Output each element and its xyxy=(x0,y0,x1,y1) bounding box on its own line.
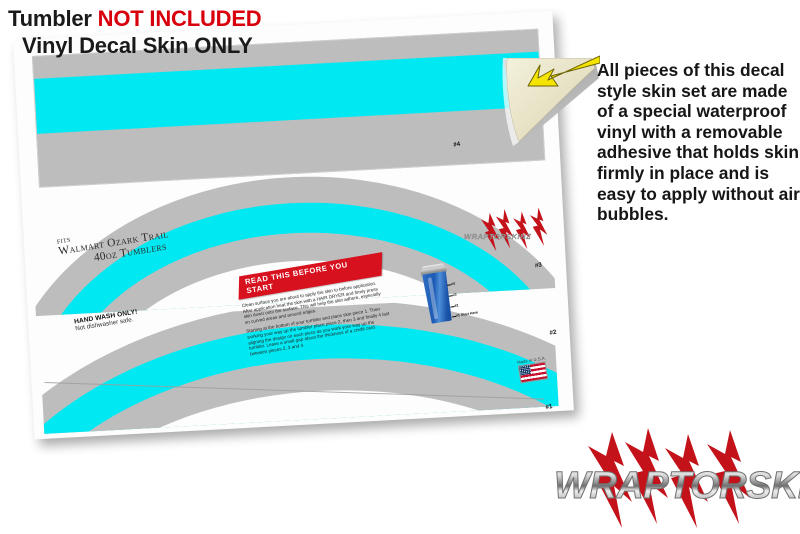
headline-line-2: Vinyl Decal Skin ONLY xyxy=(22,33,388,59)
piece-number-1: #1 xyxy=(545,403,553,411)
headline-block: Tumbler NOT INCLUDED Vinyl Decal Skin ON… xyxy=(8,6,388,59)
piece-number-4: #4 xyxy=(453,141,461,149)
tumbler-label-3: #3 xyxy=(452,293,457,298)
wraptorskinz-logo: WRAPTORSKINZ xyxy=(548,428,800,534)
tumbler-label-2: #2 xyxy=(454,303,459,308)
piece-number-2: #2 xyxy=(549,329,557,337)
description-text: All pieces of this decal style skin set … xyxy=(597,60,800,225)
decal-sheet: FITS Walmart Ozark Trail 40oz Tumblers H… xyxy=(13,40,563,465)
headline-tumbler-text: Tumbler xyxy=(8,6,98,31)
yellow-arrow-icon xyxy=(518,52,600,94)
wraptorskinz-sheet-logo: WRAPTORSKINZ xyxy=(460,208,575,254)
wraptorskinz-wordmark: WRAPTORSKINZ xyxy=(554,465,800,507)
flag-canton xyxy=(519,365,531,375)
wraptorskinz-sheet-wordmark: WRAPTORSKINZ xyxy=(464,232,531,241)
product-image-canvas: Tumbler NOT INCLUDED Vinyl Decal Skin ON… xyxy=(0,0,800,534)
piece-number-3: #3 xyxy=(534,261,542,269)
tumbler-label-4: #4 xyxy=(451,282,456,287)
headline-not-included-text: NOT INCLUDED xyxy=(98,6,262,31)
made-in-usa-block: Made in U.S.A. xyxy=(517,355,549,383)
headline-line-1: Tumbler NOT INCLUDED xyxy=(8,6,388,32)
